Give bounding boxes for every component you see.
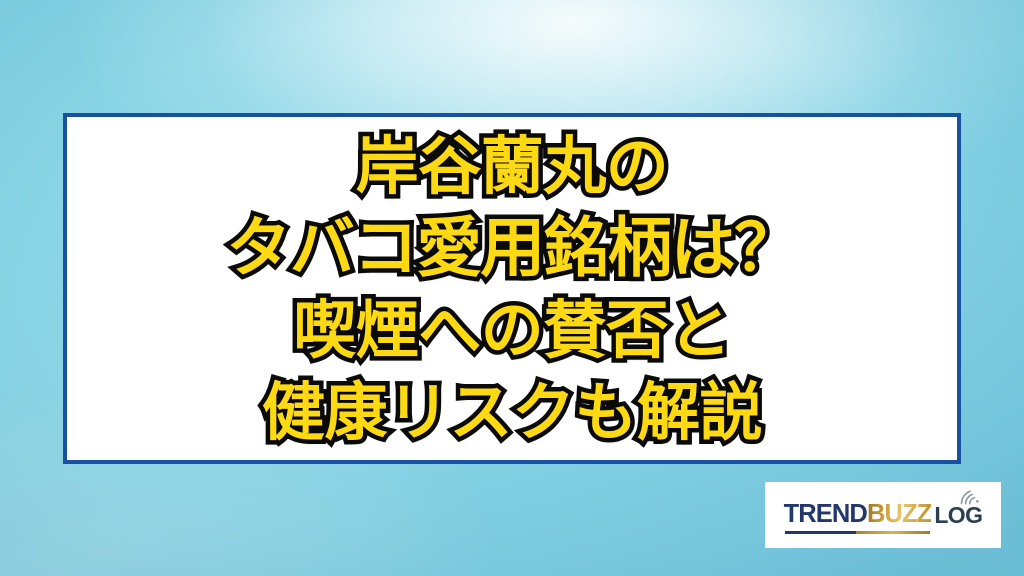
thumbnail-canvas: 岸谷蘭丸の タバコ愛用銘柄は？ 喫煙への賛否と 健康リスクも解説 TRENDBU… xyxy=(0,0,1024,576)
headline-line-2: タバコ愛用銘柄は？ xyxy=(67,208,957,290)
logo-wordmark: TRENDBUZZ xyxy=(784,502,932,528)
logo-log-wrap: LOG xyxy=(934,504,982,528)
title-card: 岸谷蘭丸の タバコ愛用銘柄は？ 喫煙への賛否と 健康リスクも解説 xyxy=(63,113,961,464)
logo-underline-rule xyxy=(785,531,931,534)
headline-line-3: 喫煙への賛否と xyxy=(67,290,957,372)
logo-inner: TRENDBUZZ LOG xyxy=(782,502,985,528)
brand-logo: TRENDBUZZ LOG xyxy=(765,482,1001,548)
logo-text-log: LOG xyxy=(934,502,982,528)
headline-line-4: 健康リスクも解説 xyxy=(67,372,957,454)
headline-block: 岸谷蘭丸の タバコ愛用銘柄は？ 喫煙への賛否と 健康リスクも解説 xyxy=(67,124,957,454)
logo-text-trend: TREND xyxy=(784,500,867,528)
logo-text-buzz: BUZZ xyxy=(867,500,931,528)
wifi-signal-icon xyxy=(958,485,984,505)
headline-line-1: 岸谷蘭丸の xyxy=(67,126,957,208)
